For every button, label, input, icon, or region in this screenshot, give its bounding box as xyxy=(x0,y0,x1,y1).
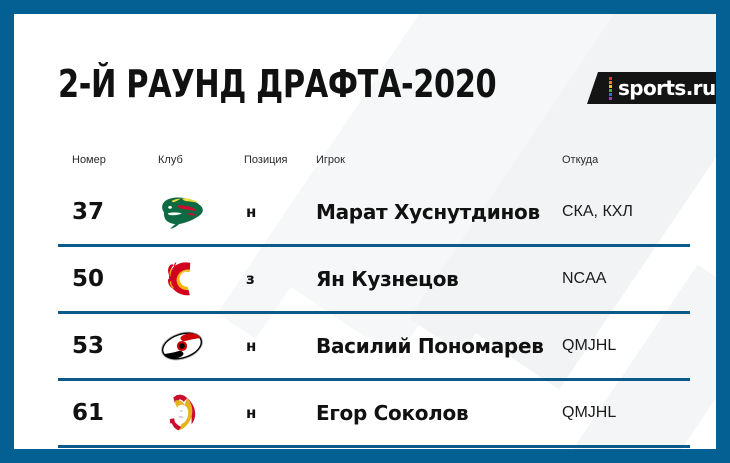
content-card: 2-Й РАУНД ДРАФТА-2020 sports.ru Номер Кл… xyxy=(14,14,716,449)
column-header-player: Игрок xyxy=(316,154,345,166)
column-header-number: Номер xyxy=(72,154,106,166)
sports-ru-dots-icon xyxy=(609,77,612,100)
table-row[interactable]: 61 xyxy=(58,381,690,448)
sports-ru-logo[interactable]: sports.ru xyxy=(587,72,716,104)
player-origin: QMJHL xyxy=(562,337,616,355)
column-header-from: Откуда xyxy=(562,154,598,166)
player-position: з xyxy=(246,270,255,288)
player-origin: NCAA xyxy=(562,270,606,288)
player-name: Егор Соколов xyxy=(316,401,468,425)
page-frame: 2-Й РАУНД ДРАФТА-2020 sports.ru Номер Кл… xyxy=(0,0,730,463)
ottawa-senators-logo xyxy=(154,391,210,435)
player-origin: QMJHL xyxy=(562,404,616,422)
table-row[interactable]: 37 н xyxy=(58,180,690,247)
player-origin: СКА, КХЛ xyxy=(562,203,633,221)
player-position: н xyxy=(246,203,256,221)
table-row[interactable]: 53 н Василий Пономарев xyxy=(58,314,690,381)
calgary-flames-logo xyxy=(154,257,210,301)
player-name: Марат Хуснутдинов xyxy=(316,200,540,224)
player-name: Ян Кузнецов xyxy=(316,267,459,291)
player-name: Василий Пономарев xyxy=(316,334,544,358)
player-position: н xyxy=(246,404,256,422)
column-header-club: Клуб xyxy=(158,154,183,166)
player-position: н xyxy=(246,337,256,355)
minnesota-wild-logo xyxy=(154,190,210,234)
table-row[interactable]: 50 з Ян Кузн xyxy=(58,247,690,314)
pick-number: 50 xyxy=(72,266,104,292)
draft-picks-table: Номер Клуб Позиция Игрок Откуда 37 xyxy=(58,154,690,448)
pick-number: 61 xyxy=(72,400,104,426)
pick-number: 37 xyxy=(72,199,104,225)
carolina-hurricanes-logo xyxy=(154,324,210,368)
column-header-position: Позиция xyxy=(244,154,288,166)
sports-ru-wordmark: sports.ru xyxy=(618,76,716,100)
pick-number: 53 xyxy=(72,333,104,359)
page-title: 2-Й РАУНД ДРАФТА-2020 xyxy=(58,60,496,108)
table-header-row: Номер Клуб Позиция Игрок Откуда xyxy=(58,154,690,180)
